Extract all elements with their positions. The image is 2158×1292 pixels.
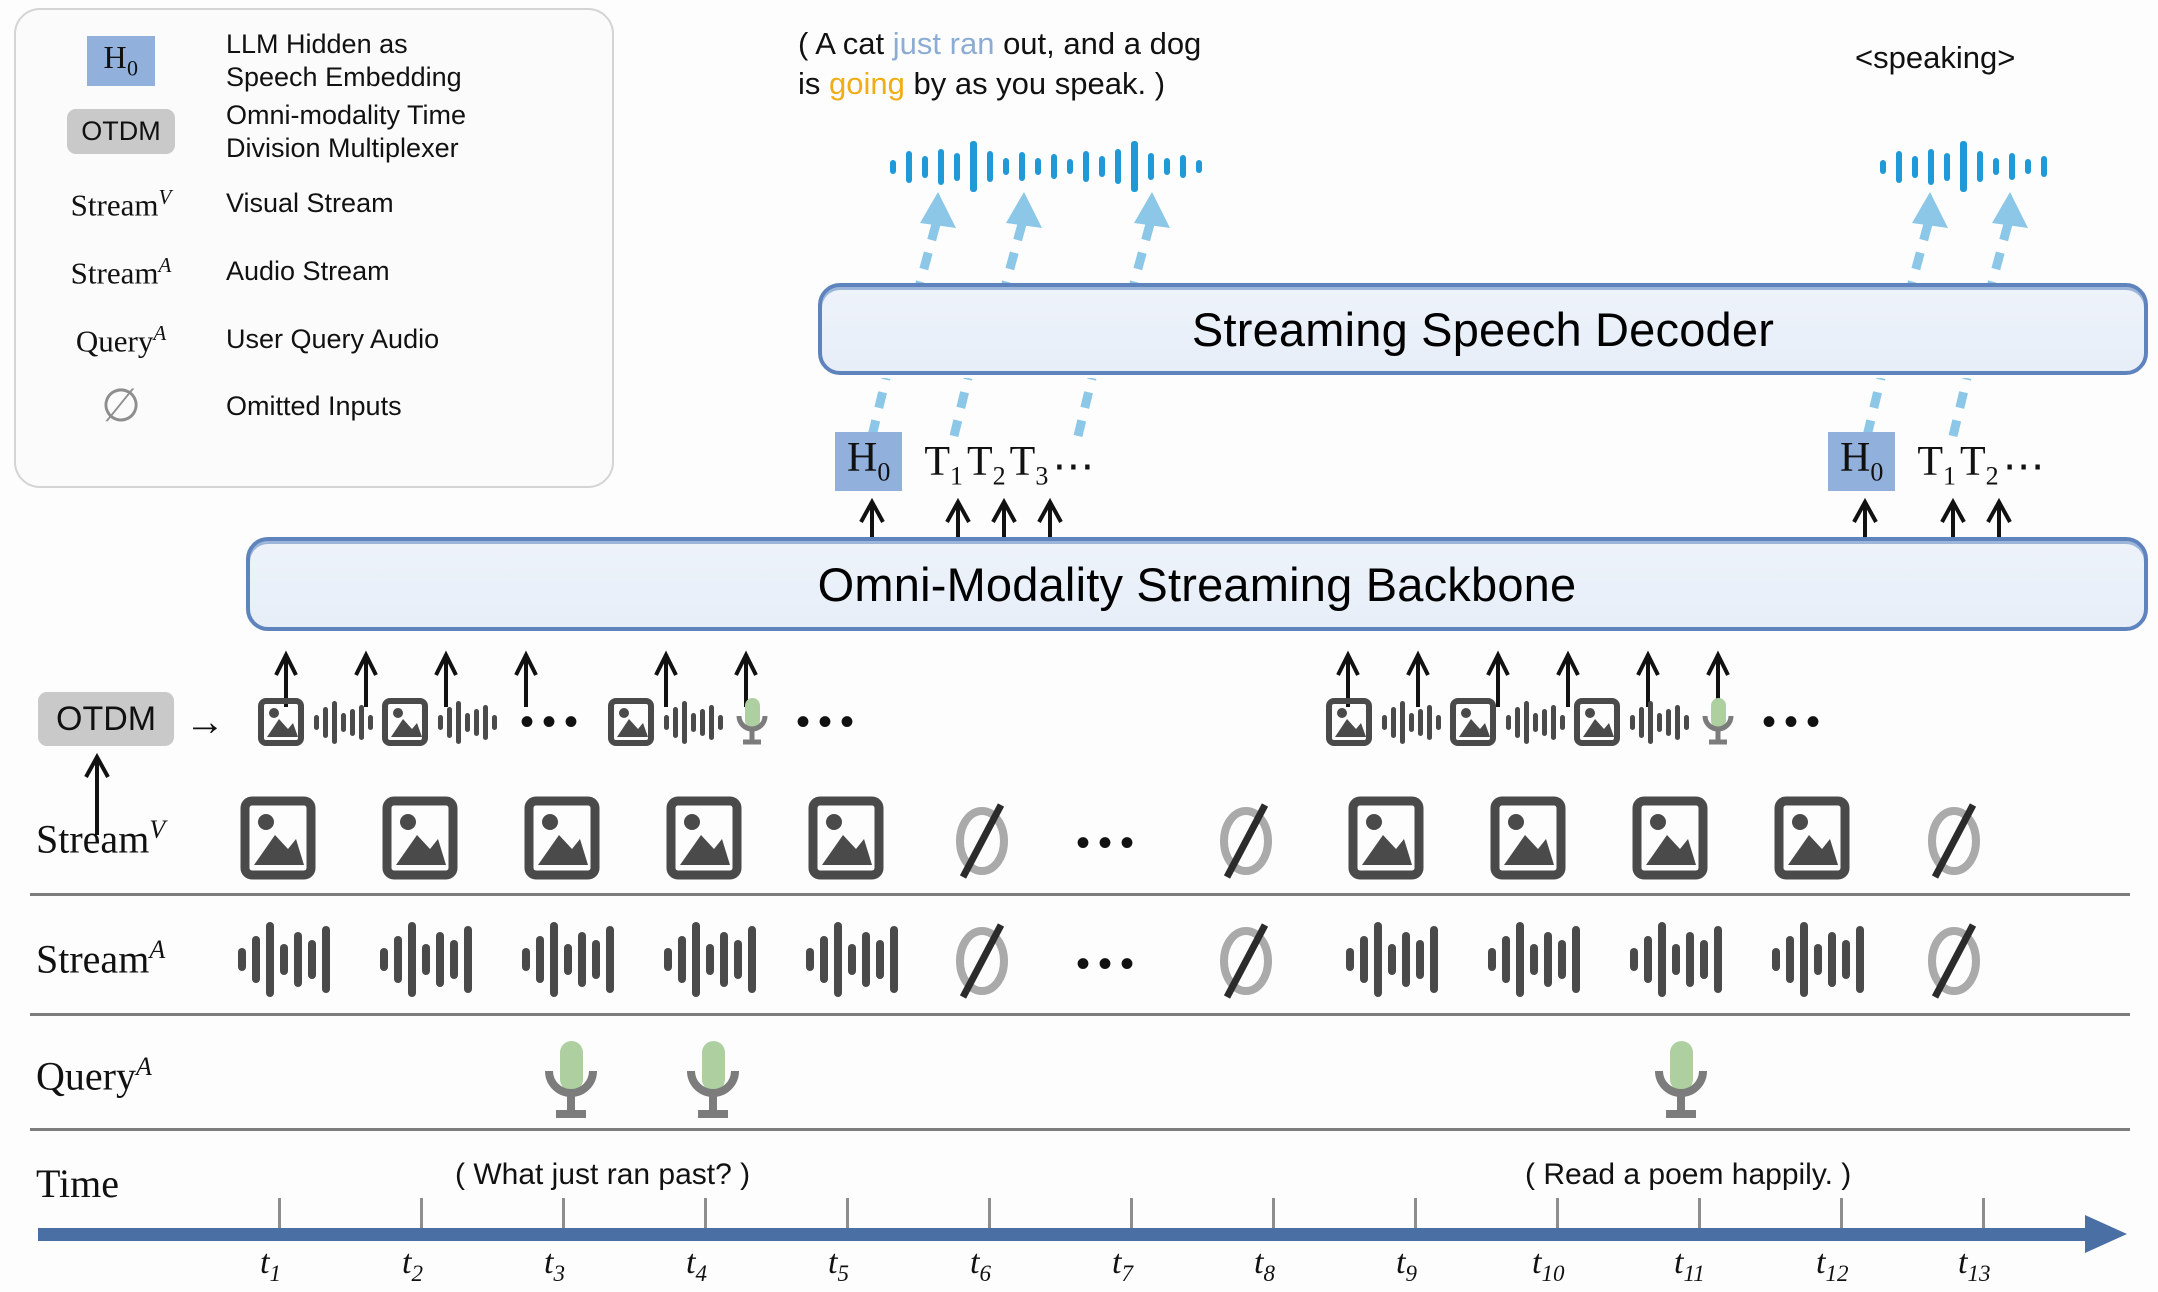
legend-item-query-a: QueryA User Query Audio	[16, 306, 612, 374]
row-label-stream-v: StreamV	[36, 815, 165, 862]
otdm-sequence-left: ••• •••	[258, 696, 862, 748]
stream-v-cell	[808, 795, 884, 886]
row-separator	[30, 1128, 2130, 1131]
token-ellipsis: ⋯	[1052, 441, 1099, 491]
stream-a-cell	[1628, 918, 1732, 1005]
image-icon	[608, 697, 654, 747]
audio-waveform-icon	[662, 697, 724, 747]
row-label-query-a: QueryA	[36, 1052, 152, 1099]
stream-a-cell	[1770, 918, 1874, 1005]
legend-desc-query-a: User Query Audio	[226, 323, 439, 356]
stream-a-cell	[1344, 918, 1448, 1005]
image-icon	[382, 795, 458, 881]
row-label-stream-a: StreamA	[36, 935, 165, 982]
legend-desc-line: Omni-modality Time	[226, 99, 466, 132]
query-a-mic	[682, 1038, 744, 1127]
stream-v-cell-omitted	[1208, 797, 1284, 886]
axis-tick	[1698, 1198, 1701, 1228]
transcript-highlight-amber: going	[829, 66, 905, 101]
microphone-icon	[732, 696, 772, 748]
omni-modality-streaming-backbone-box[interactable]: Omni-Modality Streaming Backbone	[246, 537, 2148, 631]
legend-desc-line: Speech Embedding	[226, 61, 462, 94]
stream-a-cell	[1486, 918, 1590, 1005]
image-icon	[382, 697, 428, 747]
legend-item-otdm: OTDM Omni-modality Time Division Multipl…	[16, 94, 612, 170]
audio-waveform-icon	[1380, 697, 1442, 747]
legend-desc-stream-a: Audio Stream	[226, 255, 390, 288]
axis-tick-label: t8	[1254, 1244, 1275, 1287]
microphone-icon	[1698, 696, 1738, 748]
transcript-text: out, and a dog	[994, 26, 1201, 61]
axis-tick-label: t7	[1112, 1244, 1133, 1287]
output-waveform-right	[1880, 140, 2065, 192]
axis-tick-label: t12	[1816, 1244, 1848, 1287]
legend-desc-line: Division Multiplexer	[226, 132, 466, 165]
stream-v-cell	[666, 795, 742, 886]
legend-key-h0: H0	[16, 36, 226, 86]
transcript-highlight-blue: just ran	[893, 26, 995, 61]
stream-a-cells: •••	[240, 918, 2140, 1004]
audio-waveform-icon	[312, 697, 374, 747]
audio-waveform-icon	[1628, 697, 1690, 747]
token-t2: T2	[1960, 438, 1999, 491]
stream-a-cell	[662, 918, 766, 1005]
axis-tick	[562, 1198, 565, 1228]
query-a-cells	[240, 1038, 2140, 1124]
audio-waveform-icon	[1344, 918, 1448, 1000]
query-caption-right: ( Read a poem happily. )	[1525, 1158, 1851, 1192]
legend-desc-omitted: Omitted Inputs	[226, 390, 402, 423]
streaming-speech-decoder-box[interactable]: Streaming Speech Decoder	[818, 283, 2148, 375]
token-t1: T1	[1917, 438, 1956, 491]
image-icon	[1574, 697, 1620, 747]
otdm-label: OTDM	[38, 692, 174, 746]
legend-key-otdm: OTDM	[16, 109, 226, 154]
backbone-title: Omni-Modality Streaming Backbone	[818, 557, 1577, 612]
empty-set-icon	[944, 797, 1020, 881]
image-icon	[1490, 795, 1566, 881]
axis-tick	[278, 1198, 281, 1228]
audio-waveform-icon	[378, 918, 482, 1000]
legend-item-omitted: ∅ Omitted Inputs	[16, 374, 612, 440]
axis-tick-label: t9	[1396, 1244, 1417, 1287]
h0-chip: H0	[87, 36, 154, 86]
ellipsis-dots: •••	[520, 700, 586, 745]
empty-set-icon: ∅	[101, 388, 141, 425]
stream-a-cell	[378, 918, 482, 1005]
token-to-decoder-arrows-left	[860, 378, 1160, 438]
token-to-decoder-arrows-right	[1855, 378, 2055, 438]
image-icon	[1348, 795, 1424, 881]
axis-tick	[704, 1198, 707, 1228]
query-a-mic	[1650, 1038, 1712, 1127]
stream-v-cell	[1632, 795, 1708, 886]
decoder-title: Streaming Speech Decoder	[1192, 302, 1774, 357]
token-h0: H0	[835, 432, 902, 491]
axis-tick-label: t13	[1958, 1244, 1990, 1287]
audio-waveform-icon	[236, 918, 340, 1000]
legend-key-omitted: ∅	[16, 388, 226, 425]
audio-waveform-icon	[520, 918, 624, 1000]
transcript-text: by as you speak. )	[905, 66, 1165, 101]
legend-key-query-a: QueryA	[16, 321, 226, 359]
stream-v-cell	[240, 795, 316, 886]
legend-desc-stream-v: Visual Stream	[226, 187, 394, 220]
legend-desc-line: LLM Hidden as	[226, 28, 462, 61]
axis-tick-label: t11	[1674, 1244, 1705, 1287]
axis-tick-label: t4	[686, 1244, 707, 1287]
ellipsis-dots: •••	[1076, 821, 1142, 866]
image-icon	[1450, 697, 1496, 747]
stream-v-symbol: StreamV	[71, 185, 172, 223]
otdm-box[interactable]: OTDM	[38, 700, 174, 739]
empty-set-icon	[1916, 918, 1992, 1000]
legend-item-stream-a: StreamA Audio Stream	[16, 238, 612, 306]
axis-tick	[988, 1198, 991, 1228]
microphone-icon	[540, 1038, 602, 1122]
image-icon	[1632, 795, 1708, 881]
token-row-left: H0 T1 T2 T3 ⋯	[835, 432, 1099, 491]
stream-a-cell	[520, 918, 624, 1005]
legend-key-stream-a: StreamA	[16, 253, 226, 291]
axis-tick	[846, 1198, 849, 1228]
transcript-line-2: is going by as you speak. )	[798, 64, 1201, 104]
transcript-text: ( A cat	[798, 26, 893, 61]
query-caption-left: ( What just ran past? )	[455, 1158, 750, 1192]
axis-tick	[1556, 1198, 1559, 1228]
transcript-line-1: ( A cat just ran out, and a dog	[798, 24, 1201, 64]
token-row-right: H0 T1 T2 ⋯	[1828, 432, 2050, 491]
query-a-symbol: QueryA	[76, 321, 166, 359]
time-axis-labels: t1 t2 t3 t4 t5 t6 t7 t8 t9 t10 t11 t12 t…	[240, 1244, 2140, 1292]
audio-waveform-icon	[1770, 918, 1874, 1000]
ellipsis-dots: •••	[1762, 700, 1828, 745]
axis-tick	[1130, 1198, 1133, 1228]
token-h0: H0	[1828, 432, 1895, 491]
audio-waveform-icon	[804, 918, 908, 1000]
stream-v-cell	[1490, 795, 1566, 886]
empty-set-icon	[1208, 797, 1284, 881]
image-icon	[258, 697, 304, 747]
transcript-text: is	[798, 66, 829, 101]
stream-v-cell	[382, 795, 458, 886]
microphone-icon	[1650, 1038, 1712, 1122]
stream-v-cells: •••	[240, 795, 2140, 885]
stream-v-cell	[1774, 795, 1850, 886]
image-icon	[524, 795, 600, 881]
stream-a-cell	[804, 918, 908, 1005]
row-separator	[30, 893, 2130, 896]
legend-item-stream-v: StreamV Visual Stream	[16, 170, 612, 238]
image-icon	[240, 795, 316, 881]
audio-waveform-icon	[1486, 918, 1590, 1000]
legend-item-h0: H0 LLM Hidden as Speech Embedding	[16, 28, 612, 94]
axis-tick	[420, 1198, 423, 1228]
stream-a-cell-omitted	[1916, 918, 1992, 1005]
stream-a-cell	[236, 918, 340, 1005]
axis-tick	[1982, 1198, 1985, 1228]
token-t2: T2	[967, 438, 1006, 491]
token-ellipsis: ⋯	[2003, 441, 2050, 491]
legend-desc-h0: LLM Hidden as Speech Embedding	[226, 28, 462, 94]
axis-tick	[1840, 1198, 1843, 1228]
time-axis-ticks	[240, 1198, 2140, 1228]
stream-v-cell	[524, 795, 600, 886]
otdm-arrow-icon: →	[185, 700, 225, 745]
legend-desc-otdm: Omni-modality Time Division Multiplexer	[226, 99, 466, 165]
otdm-sequence-right: •••	[1326, 696, 1828, 748]
right-transcript: <speaking>	[1855, 40, 2015, 76]
output-waveform-left	[890, 140, 1210, 192]
empty-set-icon	[1208, 918, 1284, 1000]
audio-waveform-icon	[436, 697, 498, 747]
image-icon	[666, 795, 742, 881]
otdm-chip: OTDM	[67, 109, 174, 154]
empty-set-icon	[944, 918, 1020, 1000]
axis-tick-label: t2	[402, 1244, 423, 1287]
token-t3: T3	[1010, 438, 1049, 491]
row-separator	[30, 1013, 2130, 1016]
audio-waveform-icon	[1628, 918, 1732, 1000]
image-icon	[1326, 697, 1372, 747]
stream-a-cell-omitted	[1208, 918, 1284, 1005]
speaking-label: <speaking>	[1855, 40, 2015, 76]
query-a-mic	[540, 1038, 602, 1127]
image-icon	[1774, 795, 1850, 881]
time-axis-line	[38, 1228, 2098, 1241]
axis-tick	[1414, 1198, 1417, 1228]
stream-a-symbol: StreamA	[71, 253, 172, 291]
axis-tick-label: t6	[970, 1244, 991, 1287]
stream-v-cell	[1348, 795, 1424, 886]
legend-panel: H0 LLM Hidden as Speech Embedding OTDM O…	[14, 8, 614, 488]
audio-waveform-icon	[1504, 697, 1566, 747]
stream-v-cell-omitted	[944, 797, 1020, 886]
ellipsis-dots: •••	[1076, 942, 1142, 987]
axis-tick-label: t1	[260, 1244, 281, 1287]
axis-tick-label: t3	[544, 1244, 565, 1287]
empty-set-icon	[1916, 797, 1992, 881]
image-icon	[808, 795, 884, 881]
stream-a-cell-omitted	[944, 918, 1020, 1005]
legend-key-stream-v: StreamV	[16, 185, 226, 223]
left-transcript: ( A cat just ran out, and a dog is going…	[798, 24, 1201, 103]
token-t1: T1	[924, 438, 963, 491]
audio-waveform-icon	[662, 918, 766, 1000]
axis-tick	[1272, 1198, 1275, 1228]
row-label-time: Time	[36, 1160, 119, 1207]
ellipsis-dots: •••	[796, 700, 862, 745]
microphone-icon	[682, 1038, 744, 1122]
stream-v-cell-omitted	[1916, 797, 1992, 886]
axis-tick-label: t5	[828, 1244, 849, 1287]
axis-tick-label: t10	[1532, 1244, 1564, 1287]
